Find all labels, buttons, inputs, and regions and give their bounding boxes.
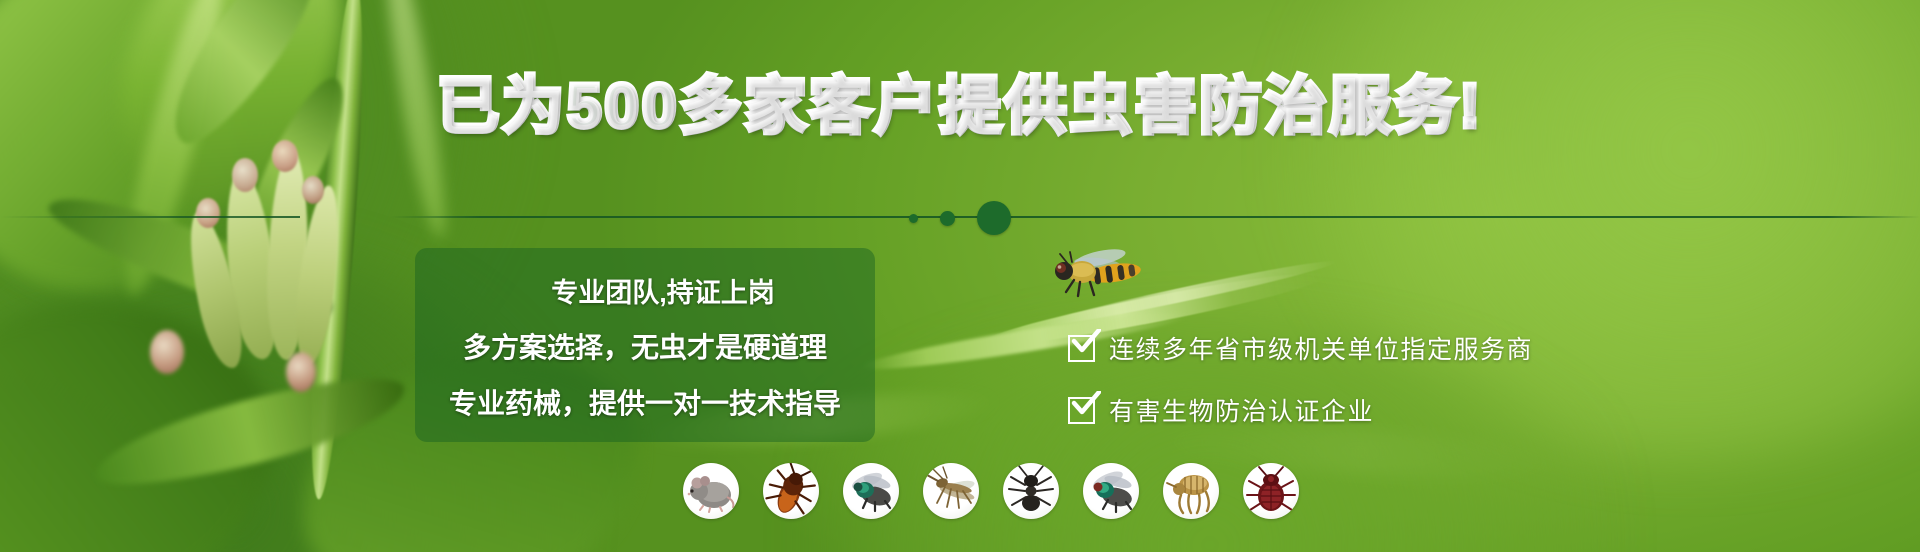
flea-icon [1163, 463, 1219, 519]
page-title: 已为500多家客户提供虫害防治服务! [0, 76, 1920, 138]
dot-large-icon [977, 201, 1011, 235]
mosquito-icon [923, 463, 979, 519]
promo-banner: 已为500多家客户提供虫害防治服务! 专业团队,持证上岗 多方案选择，无虫才是硬… [0, 0, 1920, 552]
decorative-dots [0, 196, 1920, 240]
list-item: 连续多年省市级机关单位指定服务商 [1068, 330, 1533, 366]
checkbox-checked-icon [1068, 397, 1095, 424]
ant-icon [1003, 463, 1059, 519]
selling-point-1: 专业团队,持证上岗 [415, 271, 875, 310]
bedbug-icon [1243, 463, 1299, 519]
cockroach-icon [763, 463, 819, 519]
selling-points-text: 专业团队,持证上岗 多方案选择，无虫才是硬道理 专业药械，提供一对一技术指导 [415, 248, 875, 442]
mouse-icon [683, 463, 739, 519]
dot-medium-icon [940, 211, 955, 226]
checkbox-checked-icon [1068, 335, 1095, 362]
pest-type-strip [683, 463, 1299, 519]
selling-point-2: 多方案选择，无虫才是硬道理 [415, 326, 875, 366]
selling-point-3: 专业药械，提供一对一技术指导 [415, 382, 875, 422]
credentials-list: 连续多年省市级机关单位指定服务商 有害生物防治认证企业 [1068, 330, 1533, 428]
hoverfly-illustration [1040, 244, 1160, 304]
headline-text: 已为500多家客户提供虫害防治服务! [437, 72, 1483, 141]
blowfly-icon [1083, 463, 1139, 519]
housefly-icon [843, 463, 899, 519]
credential-label: 连续多年省市级机关单位指定服务商 [1109, 330, 1533, 366]
credential-label: 有害生物防治认证企业 [1109, 392, 1374, 428]
list-item: 有害生物防治认证企业 [1068, 392, 1533, 428]
dot-small-icon [909, 214, 918, 223]
